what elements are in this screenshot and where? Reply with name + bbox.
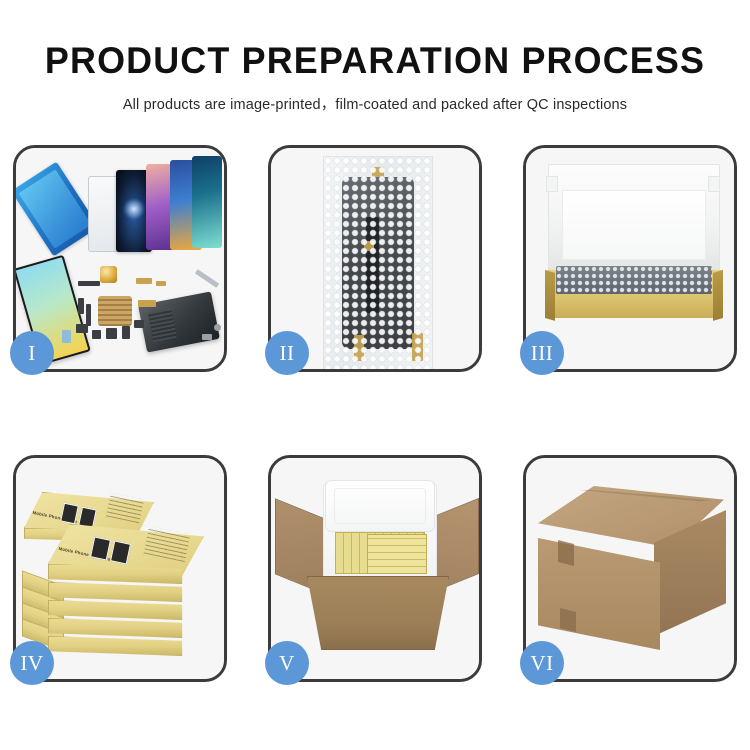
chip-board-icon [98,296,132,326]
step-badge-2: II [265,331,309,375]
box-side-face [48,582,204,602]
product-preparation-infographic: PRODUCT PREPARATION PROCESS All products… [0,0,750,750]
box-stack: Mobile Phone Spare Parts Mobile Phone Sp… [16,458,224,679]
step-badge-1: I [10,331,54,375]
carton-tape-icon [560,608,576,632]
step-panel-2[interactable]: II [268,145,482,372]
phone-teal-icon [192,156,222,248]
speaker-module-icon [100,266,117,283]
bubble-bag-icon [323,156,433,369]
page-subtitle: All products are image-printed，film-coat… [0,79,750,114]
step-badge-4: IV [10,641,54,685]
step-image-3 [526,148,734,369]
spare-part-icon [136,278,152,284]
step-image-2 [271,148,479,369]
phone-blue-adhesive-icon [16,162,99,257]
steps-grid: I II [13,145,737,682]
carton-tape-icon [558,540,574,566]
step-panel-4[interactable]: Mobile Phone Spare Parts Mobile Phone Sp… [13,455,227,682]
step-image-4: Mobile Phone Spare Parts Mobile Phone Sp… [16,458,224,679]
step-panel-1[interactable]: I [13,145,227,372]
spare-part-icon [76,324,88,333]
box-side-face [48,618,204,638]
spare-part-icon [134,320,144,328]
yellow-boxes-row-icon [367,534,427,574]
bubble-wrap-fill-icon [556,266,712,294]
spare-part-icon [138,300,156,307]
step-image-6 [526,458,734,679]
carton-front-face [538,538,660,650]
page-title: PRODUCT PREPARATION PROCESS [11,0,739,79]
step-badge-5: V [265,641,309,685]
spare-part-icon [156,281,166,286]
header: PRODUCT PREPARATION PROCESS All products… [0,0,750,114]
box-side-face [48,600,204,620]
step-image-1 [16,148,224,369]
step-panel-5[interactable]: V [268,455,482,682]
spare-part-icon [106,328,117,339]
spare-part-icon [122,326,130,339]
step-panel-3[interactable]: III [523,145,737,372]
step-panel-6[interactable]: VI [523,455,737,682]
spare-part-icon [214,324,221,331]
carton-body-icon [307,576,449,650]
lid-tab-right-icon [708,176,720,192]
spare-part-icon [92,330,101,339]
step-image-5 [271,458,479,679]
spare-part-icon [78,281,100,286]
spare-part-icon [86,304,91,326]
spare-part-icon [78,298,84,314]
foam-box-lid-icon [325,480,435,532]
screwdriver-icon [195,269,219,288]
box-side-face [48,636,204,656]
foam-insert-icon [562,190,706,260]
step-badge-6: VI [520,641,564,685]
spare-part-icon [62,330,71,343]
spare-part-icon [202,334,212,340]
bubble-texture [324,157,432,369]
lid-tab-left-icon [546,176,558,192]
step-badge-3: III [520,331,564,375]
